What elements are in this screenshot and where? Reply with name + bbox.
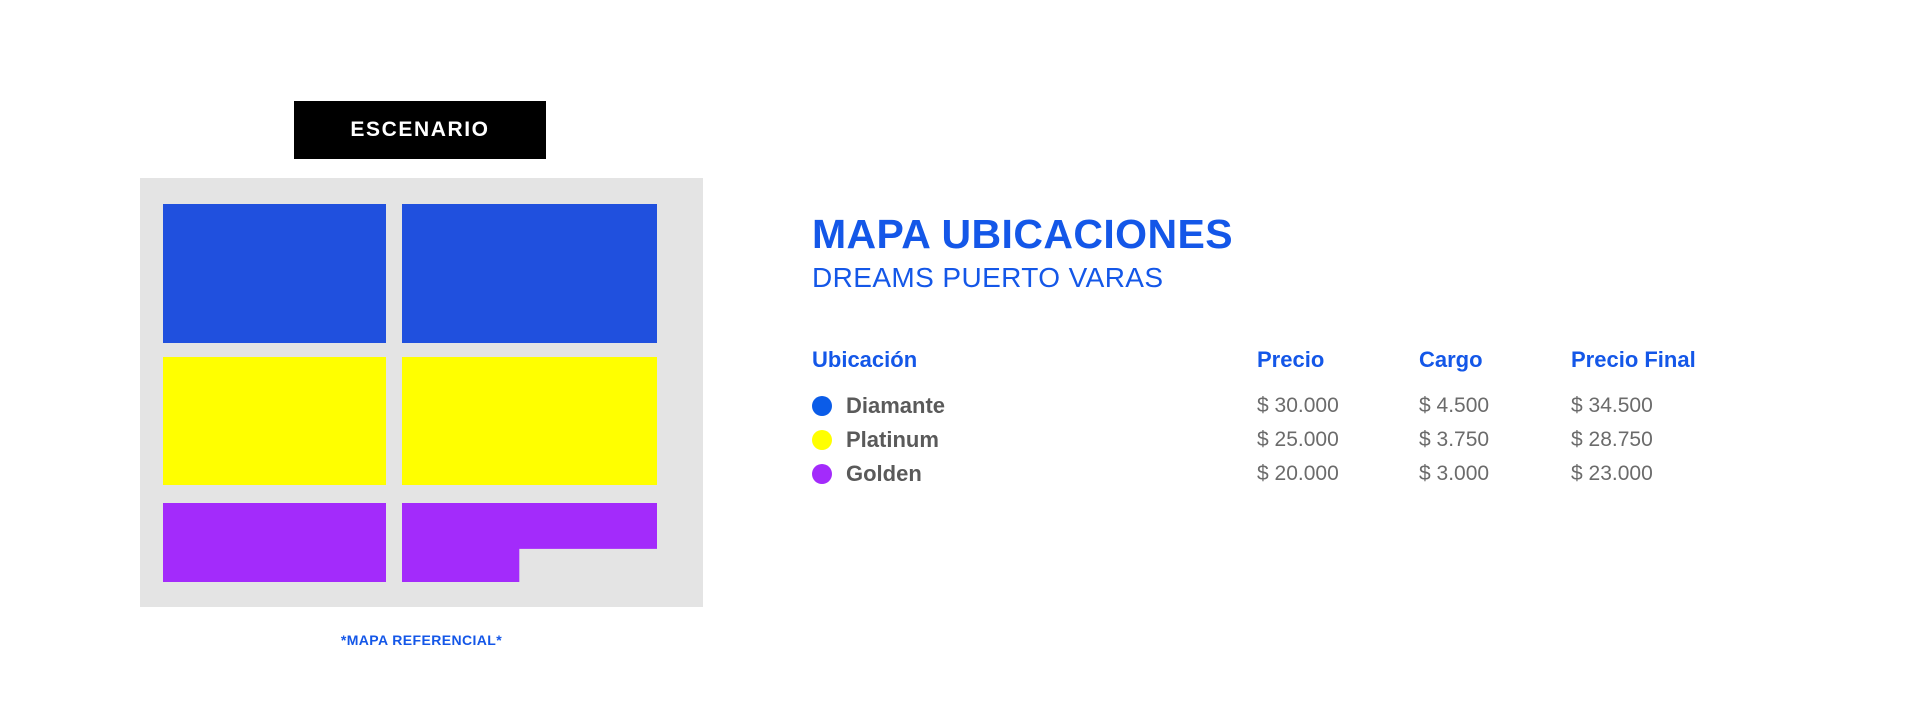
zone-color-dot-icon: [812, 430, 832, 450]
zone-color-dot-icon: [812, 464, 832, 484]
cell-fee: $ 3.000: [1419, 457, 1571, 491]
table-row[interactable]: Golden$ 20.000$ 3.000$ 23.000: [812, 457, 1822, 491]
venue-floorplan: [140, 178, 703, 607]
page-subtitle: DREAMS PUERTO VARAS: [812, 262, 1233, 294]
column-header-fee: Cargo: [1419, 347, 1571, 389]
zone-golden-right[interactable]: [402, 503, 657, 582]
zone-label: Golden: [846, 461, 922, 487]
zone-diamante-right[interactable]: [402, 204, 657, 343]
table-row[interactable]: Diamante$ 30.000$ 4.500$ 34.500: [812, 389, 1822, 423]
seating-map-page: ESCENARIO *MAPA REFERENCIAL* MAPA UBICAC…: [0, 0, 1920, 720]
zone-platinum-right[interactable]: [402, 357, 657, 485]
cell-total: $ 34.500: [1571, 389, 1822, 423]
cell-price: $ 25.000: [1257, 423, 1419, 457]
price-table-body: Diamante$ 30.000$ 4.500$ 34.500Platinum$…: [812, 389, 1822, 491]
table-header-row: Ubicación Precio Cargo Precio Final: [812, 347, 1822, 389]
zone-label: Platinum: [846, 427, 939, 453]
stage-label: ESCENARIO: [350, 118, 489, 142]
seat-map-panel: ESCENARIO *MAPA REFERENCIAL*: [0, 0, 860, 720]
stage-banner: ESCENARIO: [294, 101, 546, 159]
column-header-zone: Ubicación: [812, 347, 1257, 389]
page-title: MAPA UBICACIONES: [812, 213, 1233, 256]
column-header-total: Precio Final: [1571, 347, 1822, 389]
cell-zone: Diamante: [812, 389, 1257, 423]
zone-diamante-left[interactable]: [163, 204, 386, 343]
map-footnote: *MAPA REFERENCIAL*: [140, 632, 703, 648]
zone-color-dot-icon: [812, 396, 832, 416]
cell-fee: $ 3.750: [1419, 423, 1571, 457]
column-header-price: Precio: [1257, 347, 1419, 389]
cell-zone: Golden: [812, 457, 1257, 491]
cell-price: $ 20.000: [1257, 457, 1419, 491]
cell-total: $ 28.750: [1571, 423, 1822, 457]
table-row[interactable]: Platinum$ 25.000$ 3.750$ 28.750: [812, 423, 1822, 457]
cell-price: $ 30.000: [1257, 389, 1419, 423]
cell-total: $ 23.000: [1571, 457, 1822, 491]
cell-fee: $ 4.500: [1419, 389, 1571, 423]
zone-golden-left[interactable]: [163, 503, 386, 582]
zone-platinum-left[interactable]: [163, 357, 386, 485]
info-panel: MAPA UBICACIONES DREAMS PUERTO VARAS Ubi…: [812, 0, 1920, 720]
zone-label: Diamante: [846, 393, 945, 419]
title-block: MAPA UBICACIONES DREAMS PUERTO VARAS: [812, 213, 1233, 294]
price-table: Ubicación Precio Cargo Precio Final Diam…: [812, 347, 1822, 491]
cell-zone: Platinum: [812, 423, 1257, 457]
